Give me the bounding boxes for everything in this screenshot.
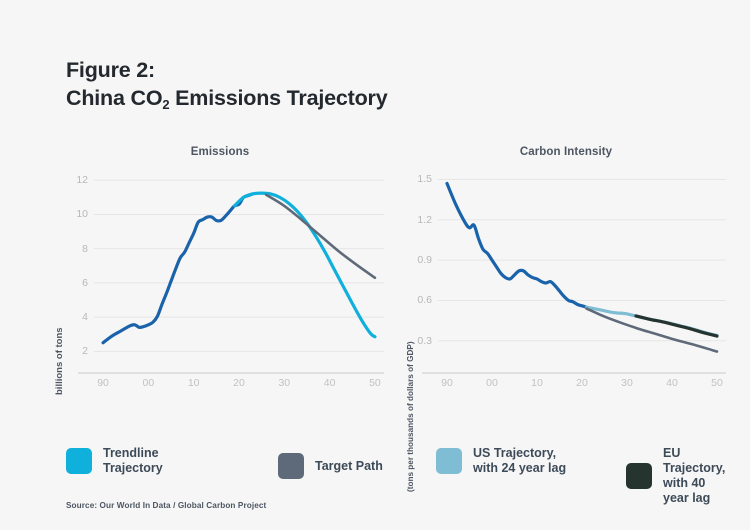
legend-item-trendline-trajectory: Trendline Trajectory <box>66 446 163 476</box>
x-axis-tick: 40 <box>324 377 336 389</box>
y-axis-tick: 12 <box>76 174 88 186</box>
series-line-historical <box>447 183 587 307</box>
x-axis-tick: 50 <box>711 377 723 389</box>
x-axis-tick: 00 <box>143 377 155 389</box>
y-axis-tick: 0.9 <box>417 254 432 266</box>
x-axis-tick: 10 <box>188 377 200 389</box>
title-subscript: 2 <box>162 97 169 112</box>
y-axis-tick: 0.6 <box>417 294 432 306</box>
series-line-target-path <box>266 195 375 278</box>
legend-swatch-eu-trajectory <box>626 463 652 489</box>
series-line-eu-trajectory-with-40-year-lag <box>636 316 717 336</box>
legend-swatch-us-trajectory <box>436 448 462 474</box>
series-line-historical <box>103 194 253 343</box>
x-axis-tick: 30 <box>621 377 633 389</box>
legend-item-us-trajectory: US Trajectory, with 24 year lag <box>436 446 566 476</box>
chart-panel-carbon-intensity: Carbon Intensity (tons per thousands of … <box>396 140 726 405</box>
x-axis-tick: 90 <box>441 377 453 389</box>
legend-label-target-path: Target Path <box>315 459 383 474</box>
title-line-2-pre: China CO <box>66 86 162 110</box>
x-axis-tick: 20 <box>233 377 245 389</box>
x-axis-tick: 50 <box>369 377 381 389</box>
title-line-1: Figure 2: <box>66 56 387 84</box>
chart-legend: Trendline Trajectory Target Path US Traj… <box>66 444 716 488</box>
legend-label-us-trajectory: US Trajectory, with 24 year lag <box>473 446 566 476</box>
title-line-2: China CO2 Emissions Trajectory <box>66 84 387 115</box>
x-axis-tick: 00 <box>486 377 498 389</box>
y-axis-tick: 1.5 <box>417 173 432 185</box>
x-axis-tick: 10 <box>531 377 543 389</box>
legend-label-eu-trajectory: EU Trajectory, with 40 year lag <box>663 446 725 506</box>
chart-svg <box>94 170 384 365</box>
y-axis-tick: 2 <box>82 345 88 357</box>
y-axis-label-emissions: billions of tons <box>54 327 65 395</box>
panel-title-emissions: Emissions <box>90 146 350 158</box>
y-axis-tick: 6 <box>82 277 88 289</box>
plot-area-emissions: 2468101290001020304050 <box>94 170 384 365</box>
x-axis-tick: 90 <box>97 377 109 389</box>
y-axis-tick: 8 <box>82 243 88 255</box>
source-note: Source: Our World In Data / Global Carbo… <box>66 501 266 510</box>
chart-svg <box>438 170 726 365</box>
y-axis-tick: 0.3 <box>417 335 432 347</box>
y-axis-tick: 10 <box>76 208 88 220</box>
chart-panel-emissions: Emissions billions of tons 2468101290001… <box>44 140 384 405</box>
legend-item-eu-trajectory: EU Trajectory, with 40 year lag <box>626 446 725 506</box>
legend-item-target-path: Target Path <box>278 453 383 479</box>
legend-label-trendline-trajectory: Trendline Trajectory <box>103 446 163 476</box>
legend-swatch-trendline-trajectory <box>66 448 92 474</box>
x-axis-tick: 30 <box>278 377 290 389</box>
legend-swatch-target-path <box>278 453 304 479</box>
y-axis-tick: 1.2 <box>417 214 432 226</box>
page-title: Figure 2: China CO2 Emissions Trajectory <box>66 56 387 115</box>
x-axis-tick: 20 <box>576 377 588 389</box>
figure-container: Figure 2: China CO2 Emissions Trajectory… <box>0 0 750 530</box>
panel-title-carbon-intensity: Carbon Intensity <box>426 146 706 158</box>
y-axis-tick: 4 <box>82 311 88 323</box>
title-line-2-post: Emissions Trajectory <box>169 86 387 110</box>
x-axis-tick: 40 <box>666 377 678 389</box>
plot-area-carbon-intensity: 0.30.60.91.21.590001020304050 <box>438 170 726 365</box>
